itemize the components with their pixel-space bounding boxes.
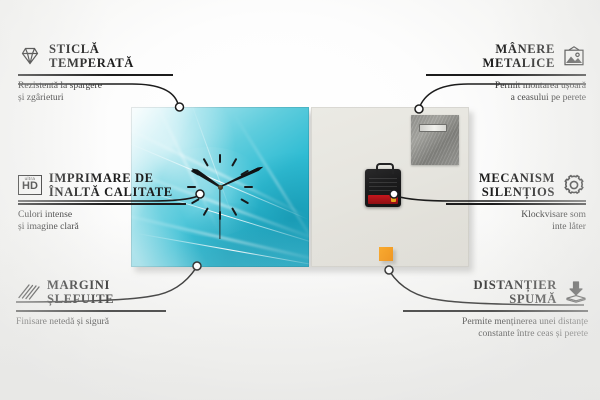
callout-sub-line1: Permite menținerea unei distanțe xyxy=(403,316,588,328)
callout-high-quality-print: ultra HD IMPRIMARE DE ÎNALTĂ CALITATE Cu… xyxy=(18,171,186,233)
callout-rule xyxy=(426,74,586,75)
clock-center-cap xyxy=(218,185,223,190)
metal-grain-texture xyxy=(411,115,459,165)
callout-title-line2: ȘLEFUITE xyxy=(47,292,114,306)
callout-title-line2: TEMPERATĂ xyxy=(49,56,134,70)
callout-rule xyxy=(18,203,186,204)
callout-title-line1: MÂNERE xyxy=(495,42,555,56)
ultra-hd-icon-main: HD xyxy=(22,181,38,192)
callout-metal-handles: MÂNERE METALICE Permit montarea ușoară a… xyxy=(426,42,586,104)
callout-sub-line1: Culori intense xyxy=(18,209,186,221)
hanger-slot xyxy=(419,124,447,132)
callout-rule xyxy=(16,310,166,311)
callout-sub-line1: Finisare netedă și sigură xyxy=(16,316,166,328)
callout-silent-mechanism: MECANISM SILENȚIOS Klockvisare som inte … xyxy=(446,171,586,233)
callout-tempered-glass: STICLĂ TEMPERATĂ Rezistentă la spargere … xyxy=(18,42,173,104)
gear-icon xyxy=(562,173,586,197)
callout-sub-line2: constante între ceas și perete xyxy=(403,328,588,340)
callout-title-line1: DISTANȚIER xyxy=(474,278,557,292)
polished-edges-icon xyxy=(16,282,40,302)
callout-sub-line2: și imagine clară xyxy=(18,221,186,233)
foam-spacer xyxy=(379,247,393,261)
callout-sub-line2: a ceasului pe perete xyxy=(426,92,586,104)
callout-rule xyxy=(18,74,173,75)
picture-frame-hook-icon xyxy=(562,46,586,67)
callout-rule xyxy=(446,203,586,204)
callout-polished-edges: MARGINI ȘLEFUITE Finisare netedă și sigu… xyxy=(16,278,166,328)
callout-foam-spacer: DISTANȚIER SPUMĂ Permite menținerea unei… xyxy=(403,278,588,340)
callout-title-line2: SILENȚIOS xyxy=(482,185,555,199)
diamond-icon xyxy=(18,46,42,66)
clock-mechanism xyxy=(365,169,401,207)
battery xyxy=(368,195,398,204)
callout-sub-line2: inte låter xyxy=(446,221,586,233)
callout-title-line1: MECANISM xyxy=(479,171,555,185)
callout-rule xyxy=(403,310,588,311)
callout-title-line1: STICLĂ xyxy=(49,42,134,56)
callout-title-line2: METALICE xyxy=(483,56,555,70)
mechanism-hanger-loop xyxy=(376,163,394,174)
callout-sub-line1: Rezistentă la spargere xyxy=(18,80,173,92)
callout-sub-line1: Permit montarea ușoară xyxy=(426,80,586,92)
callout-title-line1: MARGINI xyxy=(47,278,114,292)
metal-hanger-plate xyxy=(411,115,459,165)
ultra-hd-icon: ultra HD xyxy=(18,175,42,195)
mechanism-label xyxy=(369,175,397,191)
callout-title-line2: ÎNALTĂ CALITATE xyxy=(49,185,173,199)
callout-title-line2: SPUMĂ xyxy=(509,292,557,306)
callout-sub-line2: și zgârieturi xyxy=(18,92,173,104)
callout-title-line1: IMPRIMARE DE xyxy=(49,171,173,185)
callout-sub-line1: Klockvisare som xyxy=(446,209,586,221)
infographic-canvas: STICLĂ TEMPERATĂ Rezistentă la spargere … xyxy=(0,0,600,400)
arrow-down-pad-icon xyxy=(564,281,588,303)
